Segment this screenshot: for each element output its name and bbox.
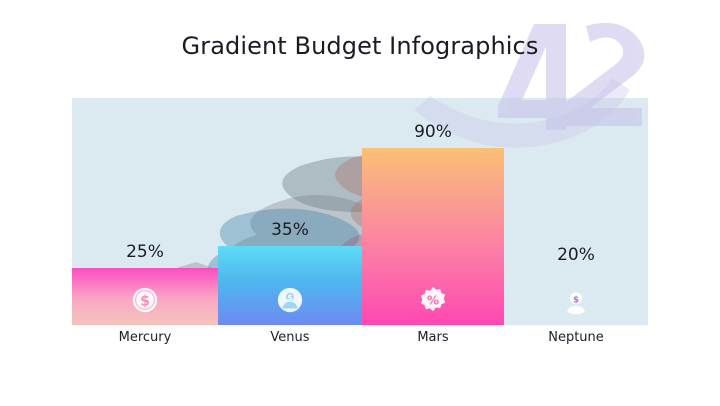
bar-slot-mars: % 90% <box>362 98 504 325</box>
bar-value-mercury: 25% <box>126 242 164 262</box>
bar-value-venus: 35% <box>271 220 309 240</box>
category-axis: Mercury Venus Mars Neptune <box>72 330 648 358</box>
cat-label-neptune: Neptune <box>504 330 648 345</box>
svg-text:%: % <box>427 294 439 308</box>
bar-slot-venus: $ 35% <box>218 98 362 325</box>
cat-label-mars: Mars <box>362 330 504 345</box>
user-dollar-icon: $ <box>275 285 305 315</box>
page-title: Gradient Budget Infographics <box>0 32 720 60</box>
dollar-coin-icon: $ <box>130 285 160 315</box>
svg-text:$: $ <box>140 294 150 310</box>
cat-label-mercury: Mercury <box>72 330 218 345</box>
infographic-canvas: Gradient Budget Infographics $ 25% $ 35% <box>0 0 720 406</box>
bar-value-neptune: 20% <box>557 245 595 265</box>
money-growth-icon: $ <box>561 287 591 317</box>
svg-text:$: $ <box>287 293 292 302</box>
bar-value-mars: 90% <box>414 122 452 142</box>
svg-text:$: $ <box>573 294 579 304</box>
bar-slot-mercury: $ 25% <box>72 98 218 325</box>
percent-badge-icon: % <box>418 285 448 315</box>
bar-slot-neptune: $ 20% <box>504 98 648 325</box>
bars-layer: $ 25% $ 35% % 90% <box>72 98 648 325</box>
cat-label-venus: Venus <box>218 330 362 345</box>
